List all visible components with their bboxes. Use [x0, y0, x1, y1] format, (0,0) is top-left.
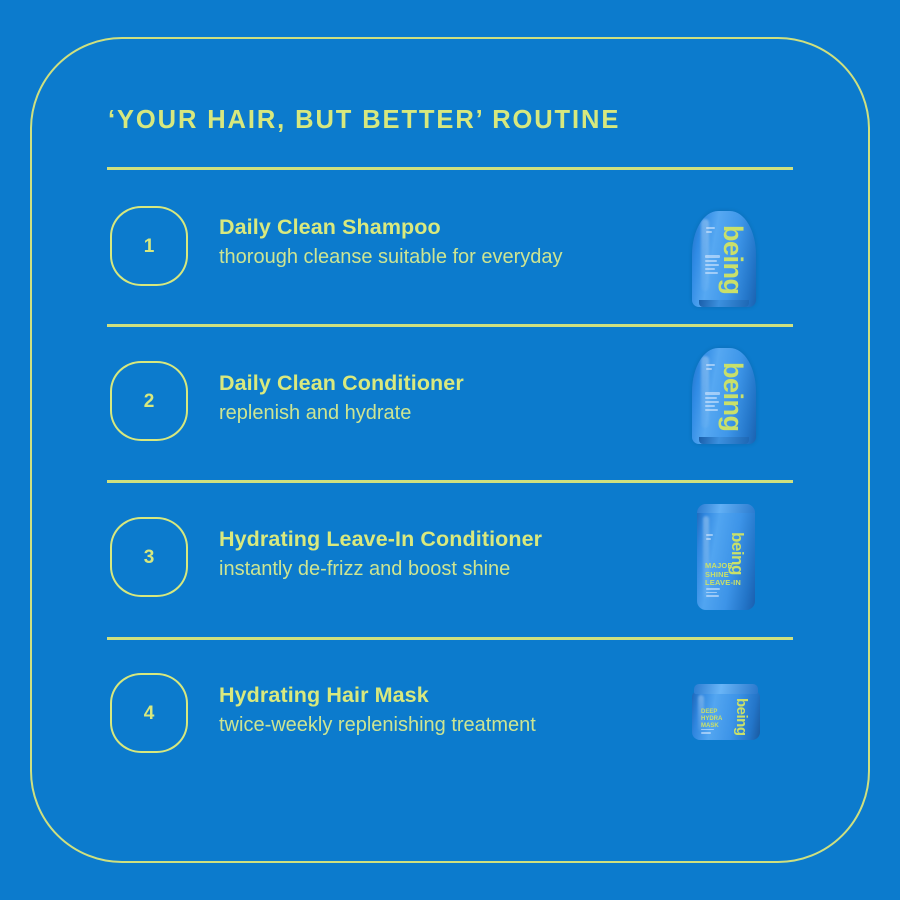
tube-cap [699, 437, 749, 444]
step-number-label: 4 [144, 704, 155, 723]
step-text-block: Daily Clean Conditioner replenish and hy… [219, 371, 464, 425]
step-number-badge: 4 [110, 673, 188, 753]
tube-top-text [706, 364, 715, 372]
step-number-badge: 3 [110, 517, 188, 597]
step-subtitle: instantly de-frizz and boost shine [219, 558, 542, 581]
step-number-label: 3 [144, 548, 155, 567]
brand-wordmark: being [733, 698, 750, 736]
hair-mask-jar-icon: DEEPHYDRAMASK being [692, 684, 760, 740]
routine-card: ‘YOUR HAIR, BUT BETTER’ ROUTINE 1 Daily … [0, 0, 900, 900]
step-number-badge: 1 [110, 206, 188, 286]
jar-bottom-text [701, 729, 714, 736]
bottle-shoulder [697, 504, 755, 513]
divider-2 [107, 480, 793, 483]
step-title: Hydrating Leave-In Conditioner [219, 527, 542, 552]
step-subtitle: replenish and hydrate [219, 402, 464, 425]
tube-top-text [706, 227, 715, 235]
page-title: ‘YOUR HAIR, BUT BETTER’ ROUTINE [108, 106, 620, 135]
step-text-block: Daily Clean Shampoo thorough cleanse sui… [219, 215, 563, 269]
step-text-block: Hydrating Hair Mask twice-weekly repleni… [219, 683, 536, 737]
divider-top [107, 167, 793, 170]
step-text-block: Hydrating Leave-In Conditioner instantly… [219, 527, 542, 581]
bottle-bottom-text [706, 588, 720, 599]
step-number-badge: 2 [110, 361, 188, 441]
brand-wordmark: being [727, 532, 747, 575]
step-title: Daily Clean Conditioner [219, 371, 464, 396]
jar-label-text: DEEPHYDRAMASK [701, 709, 722, 730]
product-image-conditioner-tube: being [692, 348, 756, 444]
product-image-leave-in-bottle: MAJORSHINELEAVE-IN being [697, 504, 755, 610]
step-number-label: 1 [144, 237, 155, 256]
shampoo-tube-icon: being [692, 211, 756, 307]
bottle-top-text [706, 534, 713, 542]
conditioner-tube-icon: being [692, 348, 756, 444]
tube-cap [699, 300, 749, 307]
product-image-hair-mask-jar: DEEPHYDRAMASK being [692, 684, 760, 740]
divider-3 [107, 637, 793, 640]
step-subtitle: thorough cleanse suitable for everyday [219, 246, 563, 269]
step-subtitle: twice-weekly replenishing treatment [219, 714, 536, 737]
divider-1 [107, 324, 793, 327]
step-title: Daily Clean Shampoo [219, 215, 563, 240]
leave-in-bottle-icon: MAJORSHINELEAVE-IN being [697, 504, 755, 610]
brand-wordmark: being [717, 225, 748, 295]
brand-wordmark: being [717, 362, 748, 432]
jar-lid [694, 684, 758, 694]
step-number-label: 2 [144, 392, 155, 411]
step-title: Hydrating Hair Mask [219, 683, 536, 708]
product-image-shampoo-tube: being [692, 211, 756, 307]
